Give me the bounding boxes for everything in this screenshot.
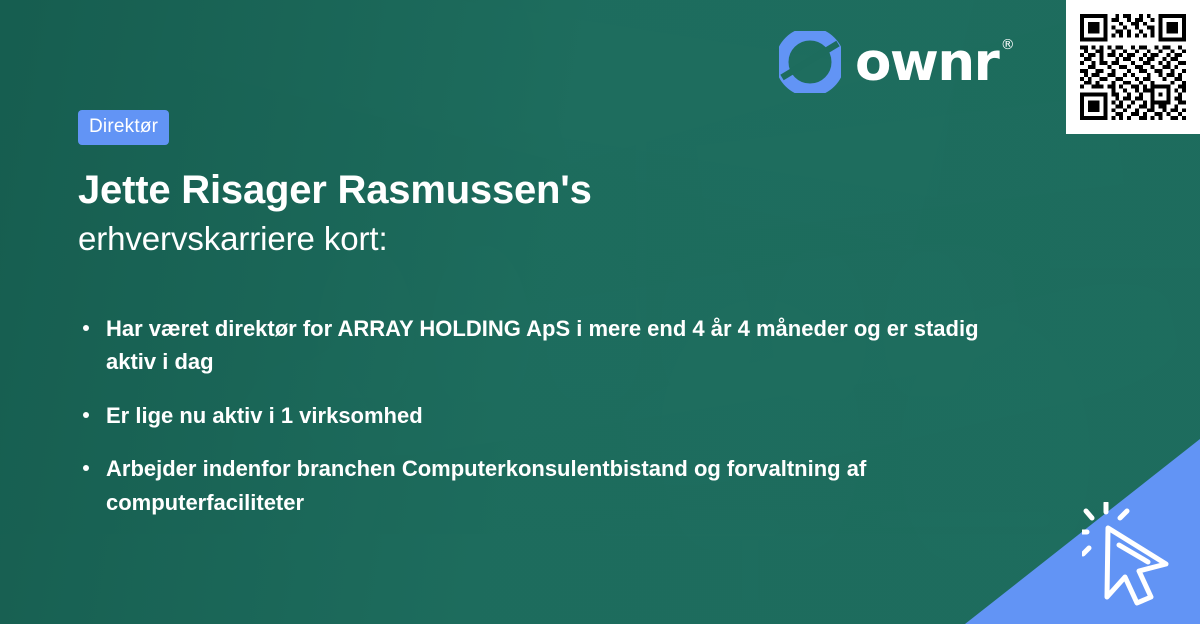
ownr-wordmark-text: ownr xyxy=(855,32,998,93)
bullet-dot-icon xyxy=(83,412,89,418)
headline-block: Direktør Jette Risager Rasmussen's erhve… xyxy=(78,110,1000,259)
page-title: Jette Risager Rasmussen's xyxy=(78,167,1000,214)
ownr-logo[interactable]: ownr ® xyxy=(779,31,998,93)
page-subtitle: erhvervskarriere kort: xyxy=(78,218,1000,259)
bullet-dot-icon xyxy=(83,465,89,471)
list-item: Har været direktør for ARRAY HOLDING ApS… xyxy=(78,312,990,379)
list-item: Er lige nu aktiv i 1 virksomhed xyxy=(78,399,990,432)
click-cursor-icon xyxy=(1082,502,1178,606)
role-badge: Direktør xyxy=(78,110,169,145)
ownr-circle-logo xyxy=(779,31,841,93)
ownr-wordmark: ownr ® xyxy=(855,36,998,89)
career-card: ownr ® Direktør Jette Risager Rasmussen'… xyxy=(0,0,1200,624)
registered-trademark-icon: ® xyxy=(1001,38,1014,52)
list-item-label: Har været direktør for ARRAY HOLDING ApS… xyxy=(106,316,979,374)
career-facts-list: Har været direktør for ARRAY HOLDING ApS… xyxy=(78,312,990,519)
list-item-label: Arbejder indenfor branchen Computerkonsu… xyxy=(106,456,866,514)
bullet-dot-icon xyxy=(83,325,89,331)
qr-code[interactable] xyxy=(1076,10,1190,124)
list-item: Arbejder indenfor branchen Computerkonsu… xyxy=(78,452,990,519)
list-item-label: Er lige nu aktiv i 1 virksomhed xyxy=(106,403,423,428)
qr-code-panel[interactable] xyxy=(1066,0,1200,134)
